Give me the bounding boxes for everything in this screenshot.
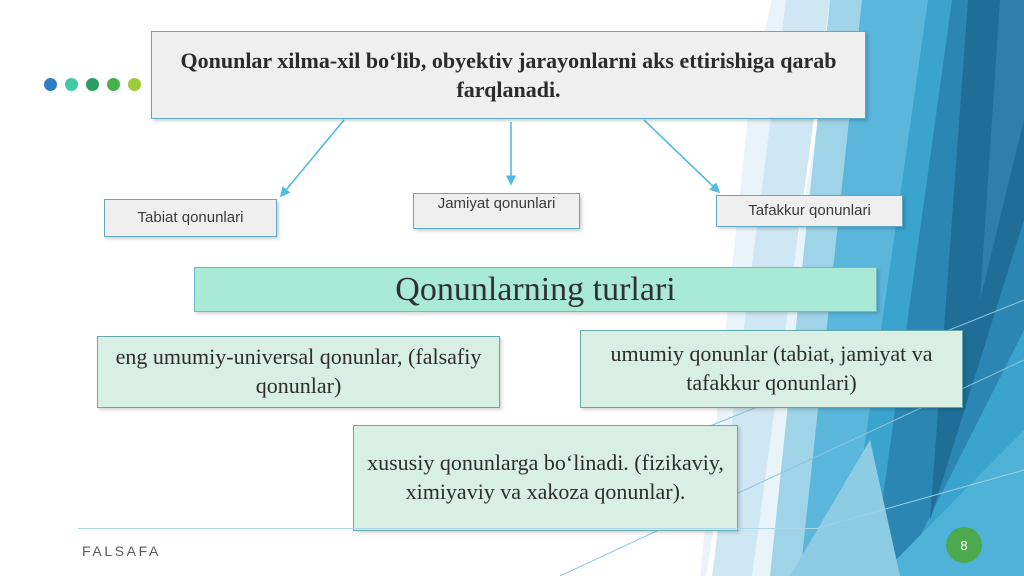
type-box-xususiy: xususiy qonunlarga bo‘linadi. (fizikaviy… [353, 425, 738, 531]
dot-3 [86, 78, 99, 91]
section-banner: Qonunlarning turlari [194, 267, 877, 312]
type-box-universal: eng umumiy-universal qonunlar, (falsafiy… [97, 336, 500, 408]
footer-divider [78, 528, 818, 529]
category-box-tabiat: Tabiat qonunlari [104, 199, 277, 237]
page-number-text: 8 [960, 538, 967, 553]
slide-title-text: Qonunlar xilma-xil bo‘lib, obyektiv jara… [168, 46, 849, 104]
category-box-tafakkur-label: Tafakkur qonunlari [717, 201, 902, 220]
dot-1 [44, 78, 57, 91]
page-number-badge: 8 [946, 527, 982, 563]
category-box-jamiyat: Jamiyat qonunlari [413, 193, 580, 229]
section-banner-text: Qonunlarning turlari [195, 271, 876, 309]
type-box-xususiy-text: xususiy qonunlarga bo‘linadi. (fizikaviy… [364, 449, 727, 506]
category-box-tafakkur: Tafakkur qonunlari [716, 195, 903, 227]
arrow-to-tafakkur [644, 120, 719, 192]
presentation-slide: Qonunlar xilma-xil bo‘lib, obyektiv jara… [0, 0, 1024, 576]
slide-title-box: Qonunlar xilma-xil bo‘lib, obyektiv jara… [151, 31, 866, 119]
type-box-umumiy-text: umumiy qonunlar (tabiat, jamiyat va tafa… [591, 340, 952, 397]
decorative-dot-row [44, 78, 141, 91]
category-box-jamiyat-label: Jamiyat qonunlari [414, 194, 579, 213]
footer-subject-label: FALSAFA [82, 543, 161, 559]
type-box-universal-text: eng umumiy-universal qonunlar, (falsafiy… [108, 343, 489, 400]
type-box-umumiy: umumiy qonunlar (tabiat, jamiyat va tafa… [580, 330, 963, 408]
dot-4 [107, 78, 120, 91]
dot-5 [128, 78, 141, 91]
dot-2 [65, 78, 78, 91]
category-box-tabiat-label: Tabiat qonunlari [105, 208, 276, 227]
arrow-to-tabiat [281, 120, 344, 196]
